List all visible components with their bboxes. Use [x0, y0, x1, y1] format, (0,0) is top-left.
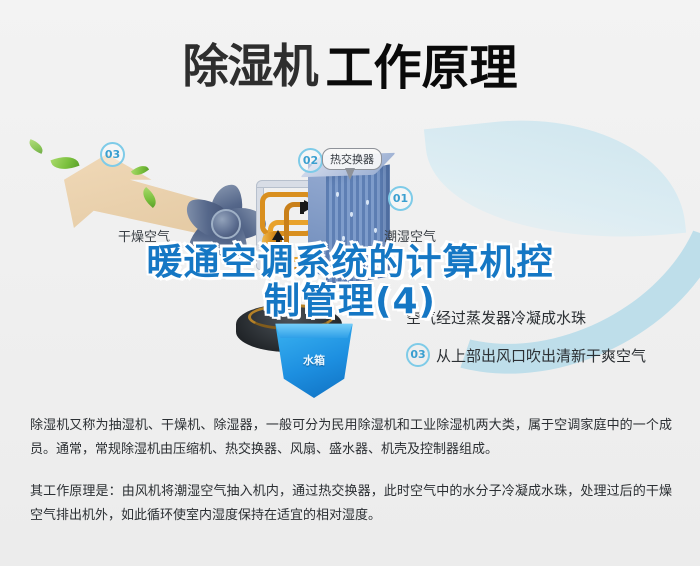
heat-exchanger-callout: 热交换器 — [322, 148, 382, 170]
step-badge-03-left: 03 — [100, 142, 125, 167]
water-droplet-icon — [342, 236, 345, 241]
flow-arrow-up-icon — [272, 230, 284, 240]
article-title-line2: 制管理(4) — [0, 282, 700, 321]
article-title-overlay: 暖通空调系统的计算机控 制管理(4) — [0, 243, 700, 321]
water-tank-label: 水箱 — [272, 352, 356, 368]
step-badge-02: 02 — [298, 148, 323, 173]
water-droplet-icon — [336, 192, 339, 197]
step-text: 从上部出风口吹出清新干爽空气 — [436, 345, 646, 366]
body-paragraph-1: 除湿机又称为抽湿机、干燥机、除湿器，一般可分为民用除湿机和工业除湿机两大类，属于… — [30, 414, 672, 462]
step-line-blowout: 03 从上部出风口吹出清新干爽空气 — [406, 336, 696, 374]
leaf-icon — [27, 139, 45, 154]
article-body: 除湿机又称为抽湿机、干燥机、除湿器，一般可分为民用除湿机和工业除湿机两大类，属于… — [30, 414, 672, 528]
callout-tail-icon — [345, 168, 355, 180]
step-badge-03-right: 03 — [406, 343, 430, 367]
body-paragraph-2: 其工作原理是：由风机将潮湿空气抽入机内，通过热交换器，此时空气中的水分子冷凝成水… — [30, 480, 672, 528]
page-title-part1: 除湿机 — [182, 39, 317, 93]
water-droplet-icon — [366, 200, 369, 205]
leaf-icon — [50, 152, 79, 173]
page-root: 除湿机工作原理 — [0, 0, 700, 566]
water-droplet-icon — [350, 212, 353, 217]
article-title-line1: 暖通空调系统的计算机控 — [0, 243, 700, 282]
page-title: 除湿机工作原理 — [0, 28, 700, 98]
water-droplet-icon — [374, 228, 377, 233]
page-title-part2: 工作原理 — [325, 40, 517, 96]
step-badge-01: 01 — [388, 186, 413, 211]
fan-hub — [211, 209, 241, 239]
water-tank-lip — [272, 322, 356, 338]
